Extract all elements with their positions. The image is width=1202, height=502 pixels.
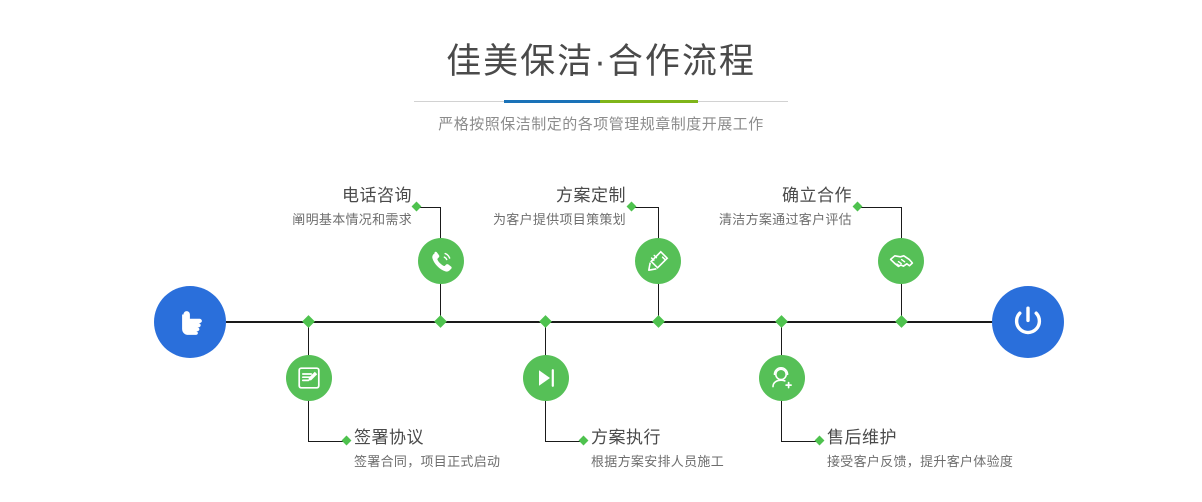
step-icon-1[interactable] [418,238,464,284]
play-next-icon [533,365,559,391]
marker-label-step-2 [342,436,352,446]
marker-axis-step-2 [302,315,315,328]
marker-axis-step-5 [895,315,908,328]
step-icon-2[interactable] [286,355,332,401]
step-desc-3: 为客户提供项目策策划 [368,211,626,229]
step-title-3: 方案定制 [368,186,626,206]
marker-axis-step-1 [434,315,447,328]
pencil-ruler-icon [645,248,671,274]
flow-start-node[interactable] [154,286,226,358]
step-title-5: 确立合作 [606,186,852,206]
step-icon-6[interactable] [759,355,805,401]
step-title-6: 售后维护 [827,428,1127,448]
step-label-3: 方案定制 为客户提供项目策策划 [368,186,626,229]
step-icon-3[interactable] [635,238,681,284]
step-icon-4[interactable] [523,355,569,401]
document-edit-icon [296,365,322,391]
connector-horizontal-step-2 [308,441,346,442]
flow-end-node[interactable] [992,286,1064,358]
step-desc-6: 接受客户反馈，提升客户体验度 [827,453,1127,471]
pointing-hand-icon [170,302,210,342]
step-label-6: 售后维护 接受客户反馈，提升客户体验度 [827,428,1127,471]
process-flow-diagram: 电话咨询 阐明基本情况和需求 签署协议 签署合同，项目正式启动 [0,0,1202,502]
timeline-axis [226,321,1002,323]
step-icon-5[interactable] [878,238,924,284]
marker-axis-step-4 [539,315,552,328]
marker-axis-step-3 [652,315,665,328]
headset-support-icon [769,365,795,391]
marker-label-step-5 [853,202,863,212]
step-label-5: 确立合作 清洁方案通过客户评估 [606,186,852,229]
phone-ring-icon [427,247,455,275]
step-desc-5: 清洁方案通过客户评估 [606,211,852,229]
handshake-icon [888,248,915,275]
marker-axis-step-6 [775,315,788,328]
connector-horizontal-step-5 [861,207,902,208]
power-icon [1007,301,1049,343]
